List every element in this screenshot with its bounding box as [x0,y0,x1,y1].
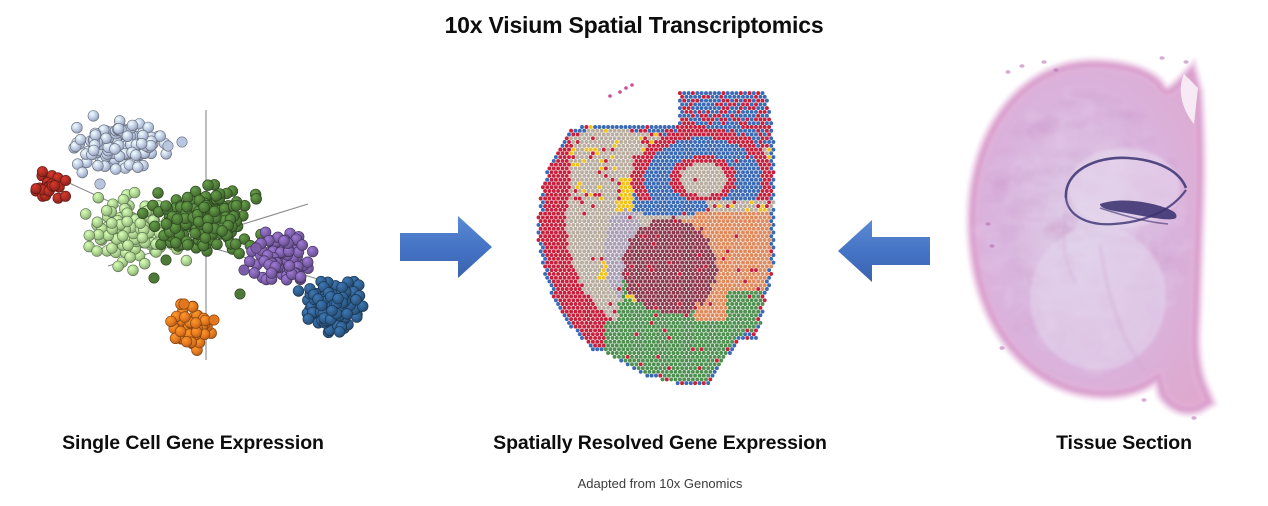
visium-spot [591,174,595,178]
visium-spot [591,166,595,170]
visium-spot [741,298,745,302]
visium-spot [698,246,702,250]
visium-spot [711,351,715,355]
scatter-point [127,120,138,131]
visium-spot [641,163,645,167]
visium-spot [739,234,743,238]
visium-spot [671,238,675,242]
visium-spot [619,140,623,144]
visium-spot [595,257,599,261]
visium-spot [689,291,693,295]
visium-spot [691,166,695,170]
visium-spot [656,242,660,246]
visium-spot [767,110,771,114]
visium-spot [665,332,669,336]
visium-spot [576,148,580,152]
visium-spot [745,321,749,325]
visium-spot [578,332,582,336]
visium-spot [587,227,591,231]
visium-spot [569,129,573,133]
visium-spot [569,151,573,155]
visium-spot [626,264,630,268]
visium-spot [684,328,688,332]
visium-spot [669,249,673,253]
visium-spot [700,234,704,238]
visium-spot [639,370,643,374]
visium-spot [750,163,754,167]
visium-spot [737,253,741,257]
visium-spot [667,178,671,182]
visium-spot [554,253,558,257]
visium-spot [580,246,584,250]
visium-spot [698,298,702,302]
visium-spot [671,366,675,370]
visium-spot [558,223,562,227]
visium-spot [650,223,654,227]
visium-spot [578,317,582,321]
scatter-point [166,316,177,327]
visium-spot [545,215,549,219]
visium-spot [719,253,723,257]
visium-spot [624,140,628,144]
visium-spot [769,257,773,261]
visium-spot [704,347,708,351]
visium-spot [615,306,619,310]
visium-spot [652,332,656,336]
visium-spot [624,313,628,317]
visium-spot [556,204,560,208]
visium-spot [643,279,647,283]
visium-spot [700,204,704,208]
visium-spot [656,166,660,170]
visium-spot [595,302,599,306]
visium-spot [689,261,693,265]
visium-spot [741,215,745,219]
visium-spot [676,231,680,235]
visium-spot [717,249,721,253]
visium-spot [689,155,693,159]
visium-spot [682,347,686,351]
visium-spot [628,321,632,325]
visium-spot [674,197,678,201]
visium-spot [647,295,651,299]
visium-spot [721,317,725,321]
tissue-texture-blob [1174,207,1186,215]
visium-spot [748,197,752,201]
visium-spot [767,246,771,250]
visium-spot [647,317,651,321]
visium-spot [650,276,654,280]
visium-spot [711,261,715,265]
visium-spot [645,359,649,363]
visium-spot [719,102,723,106]
visium-spot [728,170,732,174]
visium-spot [719,148,723,152]
visium-spot [643,295,647,299]
visium-spot [643,189,647,193]
visium-spot [652,302,656,306]
visium-spot [726,136,730,140]
visium-spot [661,234,665,238]
visium-spot [632,238,636,242]
visium-spot [758,102,762,106]
visium-spot [676,351,680,355]
visium-spot [756,295,760,299]
visium-spot [713,189,717,193]
visium-spot [613,174,617,178]
visium-spot [695,325,699,329]
visium-spot [595,204,599,208]
visium-spot [634,325,638,329]
visium-spot [717,166,721,170]
visium-spot [754,193,758,197]
visium-spot [671,283,675,287]
visium-spot [726,295,730,299]
visium-spot [565,136,569,140]
visium-spot [754,102,758,106]
visium-spot [691,370,695,374]
visium-spot [628,185,632,189]
visium-spot [702,344,706,348]
visium-spot [613,317,617,321]
visium-spot [743,91,747,95]
visium-spot [650,178,654,182]
visium-spot [684,283,688,287]
visium-spot [741,223,745,227]
visium-spot [691,242,695,246]
visium-spot [602,223,606,227]
visium-spot [567,148,571,152]
visium-spot [613,242,617,246]
visium-spot [615,185,619,189]
visium-spot [574,249,578,253]
visium-spot [654,291,658,295]
scatter-point [279,236,290,247]
visium-spot [754,306,758,310]
debris-speck [1019,64,1024,68]
visium-spot [737,155,741,159]
visium-spot [593,231,597,235]
tissue-texture-blob [1057,100,1081,107]
visium-spot [732,223,736,227]
visium-spot [608,279,612,283]
visium-spot [691,212,695,216]
visium-spot [652,182,656,186]
visium-spot [721,121,725,125]
visium-spot [567,276,571,280]
visium-spot [721,114,725,118]
visium-spot [737,110,741,114]
visium-spot [765,166,769,170]
visium-spot [750,261,754,265]
visium-spot [741,133,745,137]
visium-spot [634,287,638,291]
visium-spot [676,253,680,257]
visium-spot [719,140,723,144]
visium-spot [763,102,767,106]
visium-spot [608,166,612,170]
visium-spot [624,336,628,340]
visium-spot [732,185,736,189]
visium-spot [639,355,643,359]
visium-spot [682,189,686,193]
visium-spot [750,185,754,189]
visium-spot [678,370,682,374]
visium-spot [637,359,641,363]
visium-spot [650,148,654,152]
visium-spot [698,283,702,287]
tissue-texture-blob [1068,89,1098,98]
visium-spot [711,110,715,114]
visium-spot [739,317,743,321]
visium-spot [626,204,630,208]
visium-spot [589,246,593,250]
visium-spot [591,151,595,155]
visium-spot [608,129,612,133]
visium-spot [606,193,610,197]
visium-spot [604,310,608,314]
visium-spot [602,185,606,189]
visium-spot [611,185,615,189]
visium-spot [737,178,741,182]
visium-spot [576,291,580,295]
visium-spot [641,283,645,287]
visium-spot [652,370,656,374]
visium-spot [563,238,567,242]
visium-spot [643,355,647,359]
visium-spot [719,193,723,197]
tissue-texture-blob [1008,225,1024,231]
visium-spot [687,136,691,140]
visium-spot [632,170,636,174]
visium-spot [700,106,704,110]
visium-spot [641,291,645,295]
visium-spot [689,208,693,212]
visium-spot [661,302,665,306]
visium-spot [724,193,728,197]
visium-spot [578,189,582,193]
visium-spot [606,283,610,287]
visium-spot [628,163,632,167]
visium-spot [658,306,662,310]
visium-spot [611,238,615,242]
visium-spot [554,178,558,182]
visium-spot [684,102,688,106]
visium-spot [698,351,702,355]
visium-spot [604,129,608,133]
visium-spot [689,223,693,227]
visium-spot [613,204,617,208]
visium-spot [593,215,597,219]
visium-spot [543,249,547,253]
scatter-point [209,206,220,217]
visium-spot [761,159,765,163]
visium-spot [748,91,752,95]
visium-spot [643,362,647,366]
visium-spot [550,246,554,250]
visium-spot [719,178,723,182]
visium-spot [630,129,634,133]
visium-spot [704,166,708,170]
visium-spot [758,253,762,257]
visium-spot [658,193,662,197]
visium-spot [687,227,691,231]
visium-spot [650,170,654,174]
visium-spot [745,238,749,242]
visium-spot [628,298,632,302]
visium-spot [587,272,591,276]
visium-spot [639,302,643,306]
visium-spot [704,151,708,155]
visium-spot [613,129,617,133]
visium-spot [608,212,612,216]
visium-spot [550,261,554,265]
visium-spot [665,295,669,299]
visium-spot [643,242,647,246]
visium-spot [630,317,634,321]
scatter-point [181,255,192,266]
visium-spot [589,155,593,159]
visium-spot [613,189,617,193]
visium-spot [711,276,715,280]
visium-spot [771,185,775,189]
visium-spot [615,321,619,325]
visium-spot [593,133,597,137]
visium-spot [650,231,654,235]
visium-spot [732,117,736,121]
visium-spot [619,283,623,287]
visium-spot [565,204,569,208]
visium-spot [726,287,730,291]
visium-spot [728,193,732,197]
visium-spot [593,283,597,287]
visium-spot [693,268,697,272]
visium-spot [574,159,578,163]
visium-spot [617,212,621,216]
visium-spot [724,148,728,152]
visium-spot [617,287,621,291]
visium-spot [615,170,619,174]
visium-spot [732,178,736,182]
visium-spot [771,215,775,219]
visium-spot [656,264,660,268]
visium-spot [763,283,767,287]
visium-spot [674,264,678,268]
visium-spot [624,125,628,129]
visium-spot [628,200,632,204]
visium-spot [711,178,715,182]
visium-spot [647,129,651,133]
visium-spot [617,302,621,306]
visium-spot [647,249,651,253]
visium-spot [667,268,671,272]
scatter-point [295,272,306,283]
visium-spot [569,317,573,321]
visium-spot [721,355,725,359]
visium-spot [569,144,573,148]
visium-spot [558,276,562,280]
visium-spot [604,166,608,170]
visium-spot [691,129,695,133]
visium-spot [630,151,634,155]
visium-spot [706,231,710,235]
visium-spot [565,166,569,170]
visium-spot [702,291,706,295]
visium-spot [689,366,693,370]
visium-spot [626,159,630,163]
visium-spot [728,200,732,204]
visium-spot [728,140,732,144]
visium-spot [593,178,597,182]
visium-spot [619,163,623,167]
visium-spot [726,144,730,148]
visium-spot [550,185,554,189]
visium-spot [745,253,749,257]
visium-spot [687,377,691,381]
visium-spot [678,121,682,125]
visium-spot [632,223,636,227]
visium-spot [552,159,556,163]
visium-spot [571,140,575,144]
visium-spot [639,204,643,208]
visium-spot [561,272,565,276]
visium-spot [611,246,615,250]
visium-spot [684,261,688,265]
visium-spot [680,344,684,348]
visium-spot [715,238,719,242]
tissue-texture-blob [1077,118,1104,139]
visium-spot [748,151,752,155]
visium-spot [691,317,695,321]
visium-spot [665,310,669,314]
visium-spot [543,204,547,208]
visium-spot [680,366,684,370]
visium-spot [711,170,715,174]
visium-spot [602,148,606,152]
visium-spot [711,163,715,167]
visium-spot [728,110,732,114]
visium-spot [711,231,715,235]
visium-spot [580,283,584,287]
visium-spot [637,125,641,129]
visium-spot [593,238,597,242]
visium-spot [545,276,549,280]
visium-spot [769,264,773,268]
visium-spot [765,287,769,291]
visium-spot [680,253,684,257]
visium-spot [565,264,569,268]
visium-spot [563,223,567,227]
visium-spot [641,246,645,250]
visium-spot [767,163,771,167]
visium-spot [745,133,749,137]
visium-spot [550,163,554,167]
visium-spot [561,227,565,231]
visium-spot [682,182,686,186]
visium-spot [771,155,775,159]
visium-spot [637,298,641,302]
visium-spot [674,332,678,336]
visium-spot [687,144,691,148]
visium-spot [611,276,615,280]
visium-spot [606,215,610,219]
visium-spot [728,102,732,106]
visium-spot [676,366,680,370]
visium-spot [663,215,667,219]
visium-spot [632,306,636,310]
visium-spot [639,295,643,299]
visium-spot [711,336,715,340]
